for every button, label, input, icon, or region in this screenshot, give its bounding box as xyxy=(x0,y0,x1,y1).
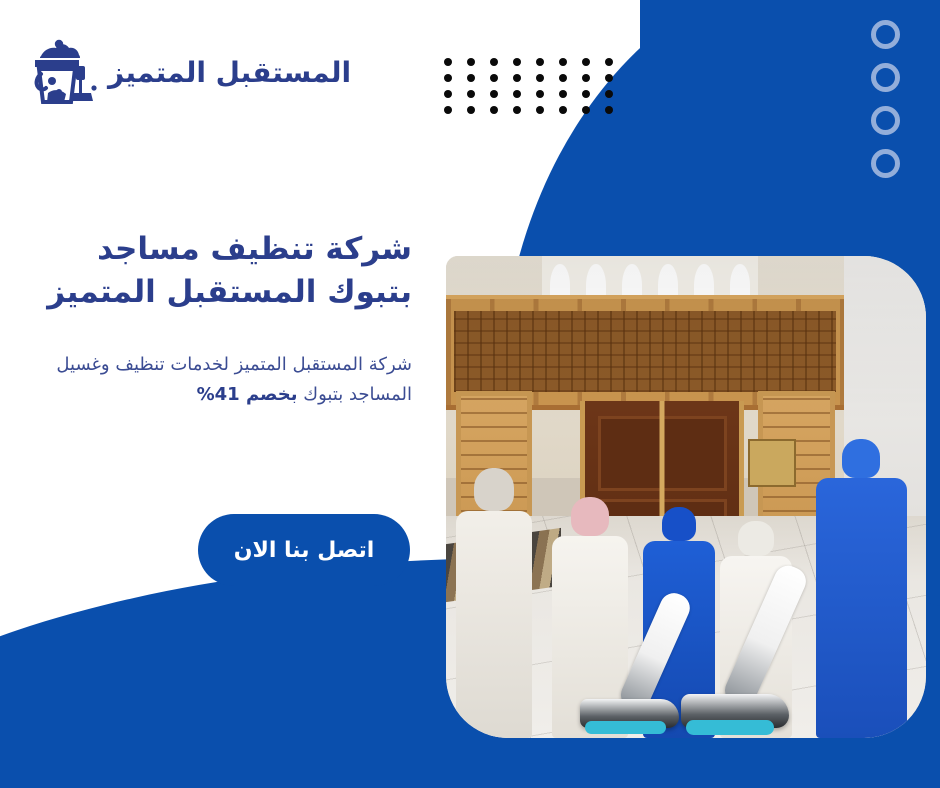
hero-copy: شركة تنظيف مساجد بتبوك المستقبل المتميز … xyxy=(20,228,412,411)
dot xyxy=(467,74,475,82)
ring-icon xyxy=(871,149,900,178)
ring-icon xyxy=(871,106,900,135)
dot xyxy=(513,106,521,114)
dot xyxy=(605,106,613,114)
ring-icon xyxy=(871,63,900,92)
dot xyxy=(444,106,452,114)
dot xyxy=(513,58,521,66)
hero-subcopy: شركة المستقبل المتميز لخدمات تنظيف وغسيل… xyxy=(20,350,412,411)
dot xyxy=(605,74,613,82)
dot xyxy=(444,90,452,98)
dot xyxy=(467,58,475,66)
dot xyxy=(559,58,567,66)
dot xyxy=(582,106,590,114)
dot xyxy=(490,74,498,82)
dot xyxy=(490,90,498,98)
dot xyxy=(467,90,475,98)
dot xyxy=(444,74,452,82)
dot xyxy=(559,90,567,98)
dot xyxy=(582,90,590,98)
dot xyxy=(536,106,544,114)
dot xyxy=(444,58,452,66)
ring-icon xyxy=(871,20,900,49)
mosque-cleaning-scene xyxy=(446,256,926,738)
cleaning-bucket-vacuum-icon xyxy=(28,36,98,108)
scene-shading-overlay xyxy=(446,256,926,738)
dot xyxy=(582,58,590,66)
dot xyxy=(536,58,544,66)
hero-photo xyxy=(446,256,926,738)
page-title: شركة تنظيف مساجد بتبوك المستقبل المتميز xyxy=(20,228,412,314)
brand-name: المستقبل المتميز xyxy=(108,56,351,89)
promo-banner: المستقبل المتميز شركة تنظيف مساجد بتبوك … xyxy=(0,0,940,788)
dot xyxy=(536,74,544,82)
dot xyxy=(513,74,521,82)
dot xyxy=(605,58,613,66)
dot xyxy=(490,106,498,114)
discount-highlight: بخصم 41% xyxy=(197,384,298,405)
dot xyxy=(559,74,567,82)
dot xyxy=(467,106,475,114)
dot xyxy=(559,106,567,114)
dot xyxy=(536,90,544,98)
dot xyxy=(513,90,521,98)
dot xyxy=(490,58,498,66)
call-us-button[interactable]: اتصل بنا الان xyxy=(198,514,410,586)
ring-decoration-group xyxy=(871,20,900,178)
dot xyxy=(582,74,590,82)
dot xyxy=(605,90,613,98)
dot-grid-decoration xyxy=(444,58,628,122)
brand-logo[interactable]: المستقبل المتميز xyxy=(28,36,351,108)
